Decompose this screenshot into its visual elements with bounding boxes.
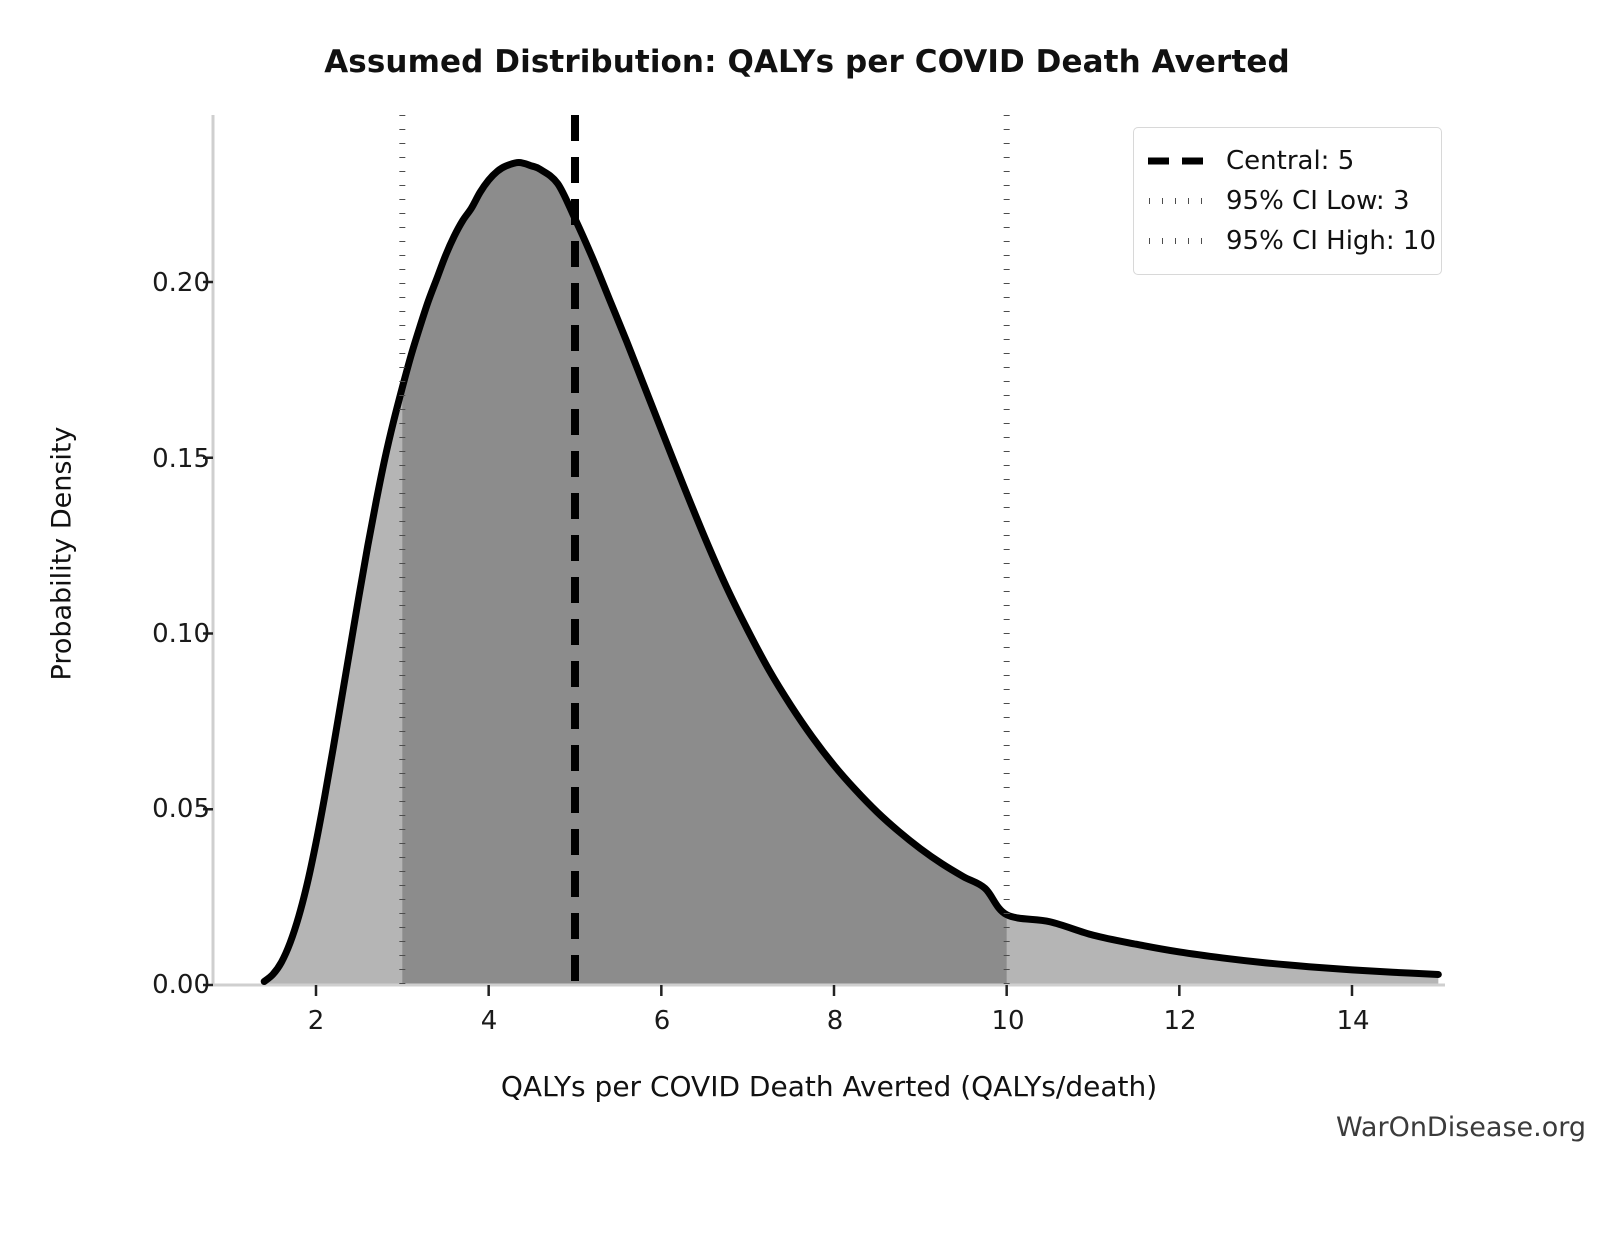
dotted-line-icon bbox=[1146, 230, 1214, 252]
xtick-label-5: 12 bbox=[1140, 1006, 1220, 1036]
dashed-line-icon bbox=[1146, 150, 1214, 172]
ytick-label-3: 0.05 bbox=[100, 794, 210, 824]
xtick-label-6: 14 bbox=[1313, 1006, 1393, 1036]
ytick-label-2: 0.10 bbox=[100, 619, 210, 649]
xtick-label-0: 2 bbox=[276, 1006, 356, 1036]
x-axis-label: QALYs per COVID Death Averted (QALYs/dea… bbox=[213, 1070, 1445, 1103]
legend-label-ci-high: 95% CI High: 10 bbox=[1226, 226, 1436, 256]
xtick-label-1: 4 bbox=[449, 1006, 529, 1036]
xtick-label-2: 6 bbox=[622, 1006, 702, 1036]
legend: Central: 5 95% CI Low: 3 95% CI High: 10 bbox=[1133, 127, 1442, 275]
legend-item-ci-low[interactable]: 95% CI Low: 3 bbox=[1146, 181, 1427, 221]
y-axis-label: Probability Density bbox=[47, 374, 78, 734]
ytick-label-4: 0.00 bbox=[100, 970, 210, 1000]
ytick-label-0: 0.20 bbox=[100, 268, 210, 298]
density-fill-ci bbox=[402, 162, 1006, 985]
legend-item-ci-high[interactable]: 95% CI High: 10 bbox=[1146, 221, 1427, 261]
legend-item-central[interactable]: Central: 5 bbox=[1146, 141, 1427, 181]
legend-label-ci-low: 95% CI Low: 3 bbox=[1226, 186, 1410, 216]
watermark: WarOnDisease.org bbox=[1336, 1112, 1586, 1143]
legend-label-central: Central: 5 bbox=[1226, 146, 1354, 176]
dotted-line-icon bbox=[1146, 190, 1214, 212]
xtick-label-4: 10 bbox=[968, 1006, 1048, 1036]
chart-page: Assumed Distribution: QALYs per COVID De… bbox=[0, 0, 1614, 1234]
ytick-label-1: 0.15 bbox=[100, 444, 210, 474]
xtick-label-3: 8 bbox=[795, 1006, 875, 1036]
